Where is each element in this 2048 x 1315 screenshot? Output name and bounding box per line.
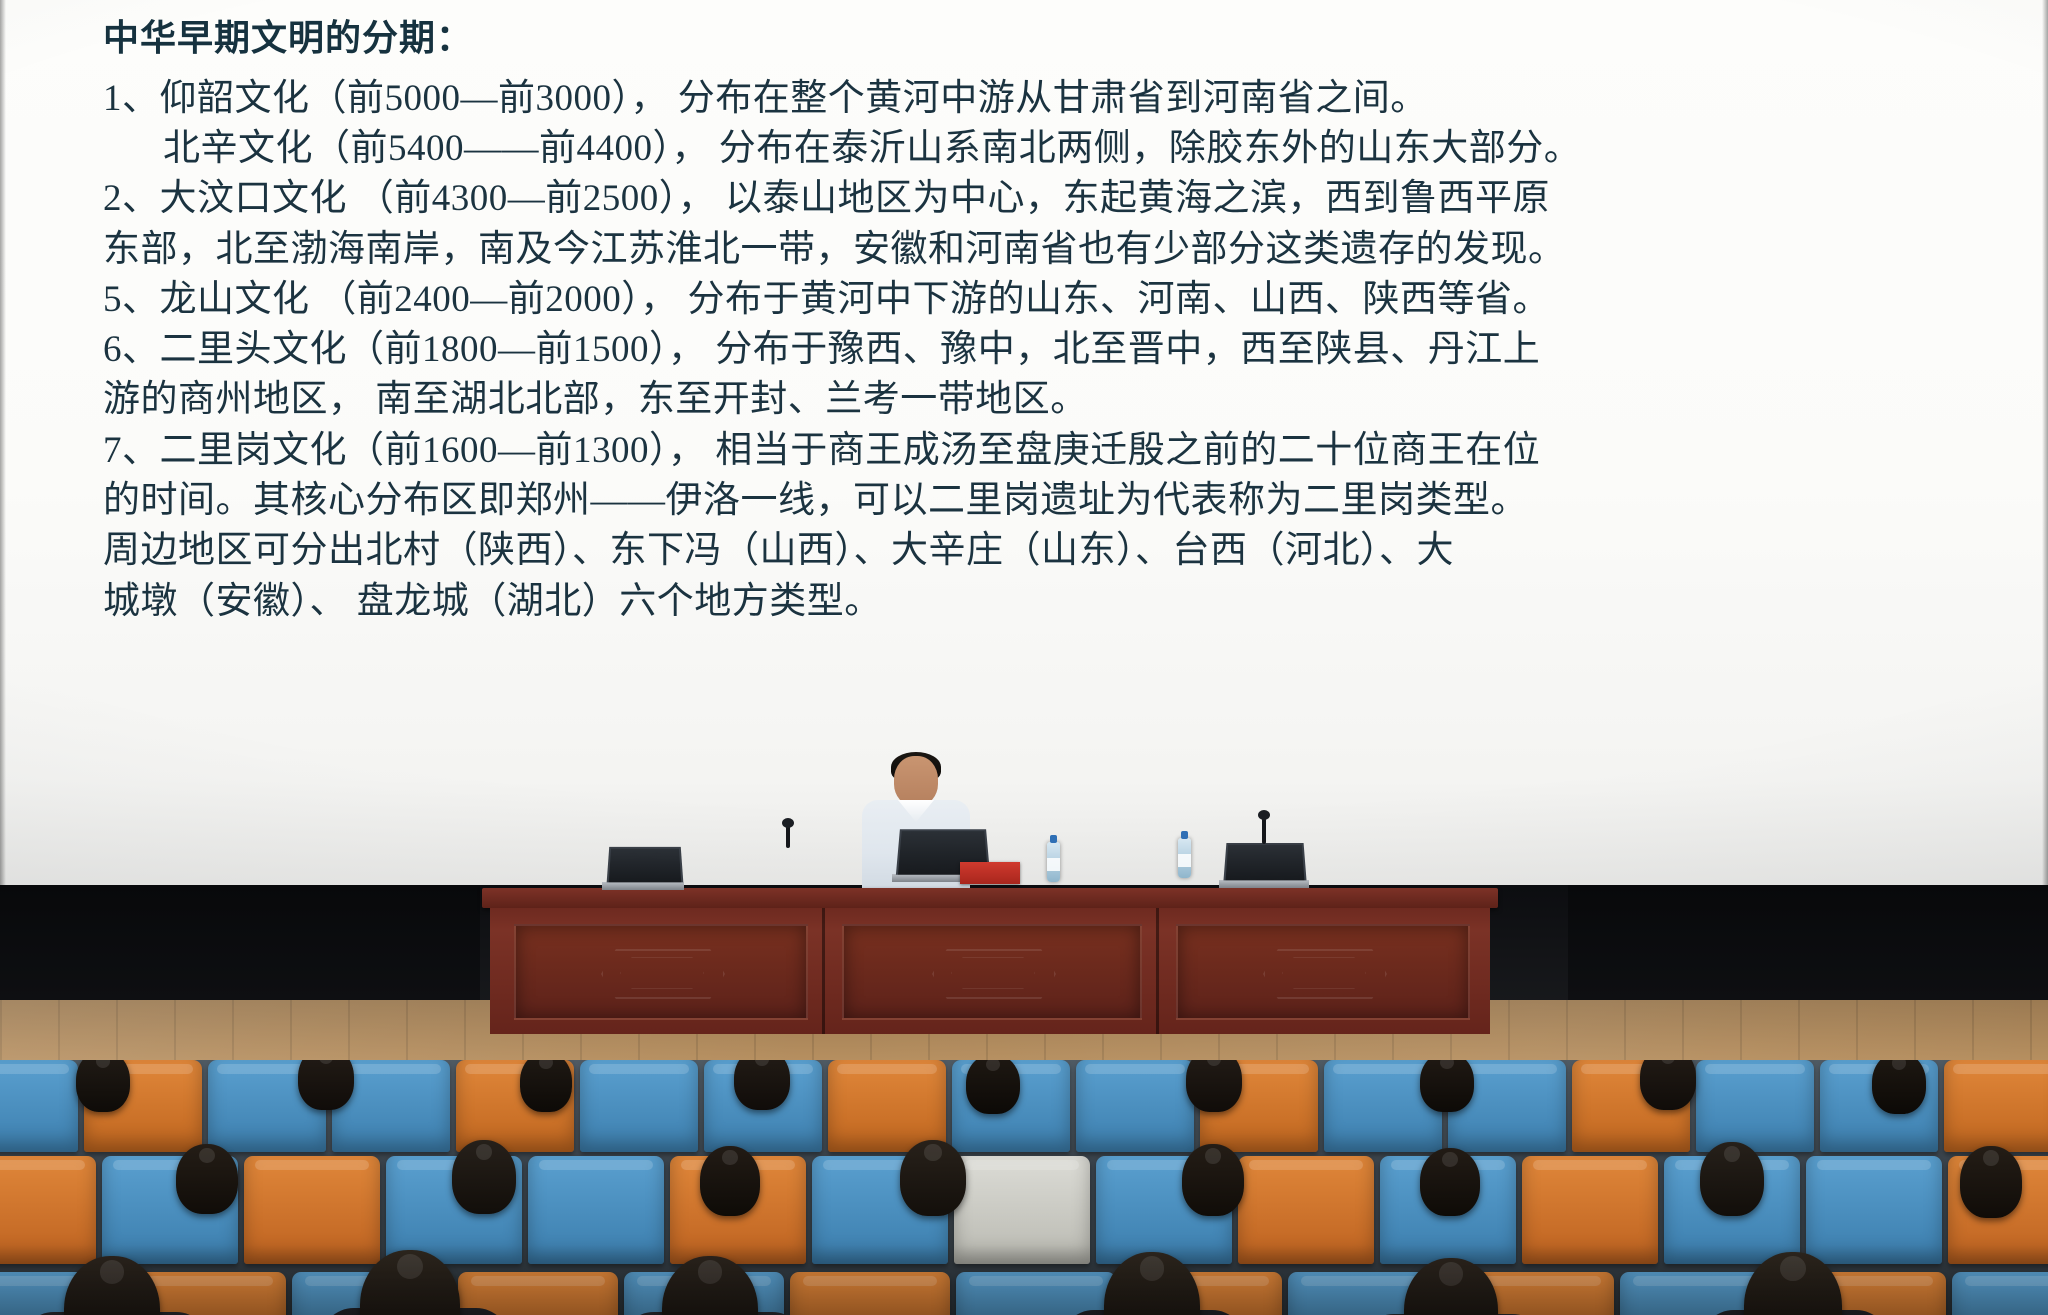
slide-line-9: 的时间。其核心分布区即郑州——伊洛一线，可以二里岗遗址为代表称为二里岗类型。 bbox=[103, 476, 2008, 526]
seat-row-front bbox=[0, 1272, 2048, 1315]
seat bbox=[1696, 1060, 1814, 1152]
audience-head bbox=[520, 1060, 572, 1112]
seat-back bbox=[1952, 1272, 2048, 1315]
nameplate bbox=[960, 862, 1020, 884]
audience-head bbox=[1182, 1144, 1244, 1216]
audience-head bbox=[176, 1144, 238, 1214]
podium-seam bbox=[822, 908, 825, 1034]
seat-back bbox=[954, 1156, 1090, 1264]
seat bbox=[790, 1272, 950, 1315]
water-bottle-left bbox=[1047, 842, 1060, 882]
microphone-icon bbox=[1262, 818, 1266, 844]
seat-back bbox=[1806, 1156, 1942, 1264]
lecture-hall-scene: 中华早期文明的分期： 1、仰韶文化（前5000—前3000）， 分布在整个黄河中… bbox=[0, 0, 2048, 1315]
screen-edge-left bbox=[0, 0, 6, 885]
seat-highlight bbox=[471, 1276, 605, 1286]
seat-highlight bbox=[837, 1064, 936, 1074]
seat bbox=[0, 1156, 96, 1264]
seat-highlight bbox=[965, 1160, 1079, 1170]
seat bbox=[1806, 1156, 1942, 1264]
seat-highlight bbox=[1249, 1160, 1363, 1170]
audience-head bbox=[76, 1060, 130, 1112]
audience-head bbox=[966, 1060, 1020, 1114]
audience-head bbox=[1700, 1142, 1764, 1216]
seat-highlight bbox=[539, 1160, 653, 1170]
seat bbox=[1944, 1060, 2048, 1152]
seat-highlight bbox=[1533, 1160, 1647, 1170]
seat-back bbox=[1238, 1156, 1374, 1264]
audience-head bbox=[900, 1140, 966, 1216]
seat-highlight bbox=[0, 1064, 69, 1074]
laptop-screen bbox=[1223, 843, 1306, 880]
slide-text-block: 中华早期文明的分期： 1、仰韶文化（前5000—前3000）， 分布在整个黄河中… bbox=[103, 18, 2008, 627]
audience-head bbox=[298, 1060, 354, 1110]
audience-head bbox=[1186, 1060, 1242, 1112]
podium-seam bbox=[1156, 908, 1159, 1034]
seat-highlight bbox=[969, 1276, 1103, 1286]
slide-line-7: 游的商州地区， 南至湖北北部，东至开封、兰考一带地区。 bbox=[103, 375, 2008, 425]
seat-highlight bbox=[1333, 1064, 1432, 1074]
seat-back bbox=[528, 1156, 664, 1264]
slide-line-6: 6、二里头文化（前1800—前1500）， 分布于豫西、豫中，北至晋中，西至陕县… bbox=[103, 325, 2008, 375]
slide-line-3: 2、大汶口文化 （前4300—前2500）， 以泰山地区为中心，东起黄海之滨，西… bbox=[103, 174, 2008, 224]
seat-highlight bbox=[341, 1064, 440, 1074]
audience-seating bbox=[0, 1060, 2048, 1315]
seat bbox=[528, 1156, 664, 1264]
seat-highlight bbox=[255, 1160, 369, 1170]
audience-head bbox=[1960, 1146, 2022, 1218]
seat bbox=[828, 1060, 946, 1152]
seat-highlight bbox=[139, 1276, 273, 1286]
audience-head bbox=[662, 1256, 758, 1315]
seat bbox=[1076, 1060, 1194, 1152]
slide-line-10: 周边地区可分出北村（陕西）、东下冯（山西）、大辛庄（山东）、台西（河北）、大 bbox=[103, 526, 2008, 576]
podium-top-rail bbox=[482, 888, 1498, 908]
seat-back bbox=[580, 1060, 698, 1152]
slide-line-1: 1、仰韶文化（前5000—前3000）， 分布在整个黄河中游从甘肃省到河南省之间… bbox=[103, 74, 2008, 124]
audience-head bbox=[700, 1146, 760, 1216]
seat-highlight bbox=[1085, 1064, 1184, 1074]
slide-line-4: 东部，北至渤海南岸，南及今江苏淮北一带，安徽和河南省也有少部分这类遗存的发现。 bbox=[103, 225, 2008, 275]
seat-highlight bbox=[0, 1160, 85, 1170]
seat bbox=[954, 1156, 1090, 1264]
seat-back bbox=[1076, 1060, 1194, 1152]
podium-diamond-inner-icon bbox=[1282, 957, 1366, 989]
laptop-left bbox=[608, 846, 684, 890]
seat-back bbox=[956, 1272, 1116, 1315]
podium-panel-center bbox=[842, 924, 1142, 1020]
seat bbox=[1522, 1156, 1658, 1264]
seat-highlight bbox=[1817, 1160, 1931, 1170]
podium-diamond-inner-icon bbox=[951, 957, 1035, 989]
seat-highlight bbox=[589, 1064, 688, 1074]
slide-line-2: 北辛文化（前5400——前4400）， 分布在泰沂山系南北两侧，除胶东外的山东大… bbox=[103, 124, 2008, 174]
slide-title: 中华早期文明的分期： bbox=[103, 18, 2008, 58]
podium-diamond-inner-icon bbox=[620, 957, 704, 989]
laptop-base bbox=[1219, 880, 1309, 888]
slide-line-5: 5、龙山文化 （前2400—前2000）， 分布于黄河中下游的山东、河南、山西、… bbox=[103, 275, 2008, 325]
audience-head bbox=[1420, 1148, 1480, 1216]
laptop-base bbox=[602, 882, 684, 890]
seat-back bbox=[0, 1156, 96, 1264]
projected-slide: 中华早期文明的分期： 1、仰韶文化（前5000—前3000）， 分布在整个黄河中… bbox=[0, 0, 2048, 885]
audience-head bbox=[1404, 1258, 1498, 1315]
audience-head bbox=[452, 1140, 516, 1214]
slide-line-8: 7、二里岗文化（前1600—前1300）， 相当于商王成汤至盘庚迁殷之前的二十位… bbox=[103, 426, 2008, 476]
seat-back bbox=[244, 1156, 380, 1264]
seat-back bbox=[0, 1060, 78, 1152]
podium-panel-left bbox=[514, 924, 808, 1020]
bottle-label bbox=[1047, 858, 1060, 871]
microphone-icon bbox=[786, 826, 790, 848]
slide-line-11: 城墩（安徽）、 盘龙城（湖北）六个地方类型。 bbox=[103, 577, 2008, 627]
laptop-screen bbox=[607, 847, 684, 882]
seat-back bbox=[1944, 1060, 2048, 1152]
speaker-podium bbox=[490, 888, 1490, 1036]
laptop-right bbox=[1225, 842, 1309, 888]
seat-highlight bbox=[803, 1276, 937, 1286]
water-bottle-right bbox=[1178, 838, 1191, 878]
seat-back bbox=[828, 1060, 946, 1152]
seat-back bbox=[1696, 1060, 1814, 1152]
seat bbox=[1952, 1272, 2048, 1315]
seat-highlight bbox=[1953, 1064, 2048, 1074]
seat-highlight bbox=[1705, 1064, 1804, 1074]
podium-front bbox=[490, 908, 1490, 1034]
seat bbox=[956, 1272, 1116, 1315]
bottle-label bbox=[1178, 854, 1191, 867]
audience-head bbox=[734, 1060, 790, 1110]
screen-edge-right bbox=[2042, 0, 2048, 885]
seat bbox=[1238, 1156, 1374, 1264]
audience-head bbox=[64, 1256, 160, 1315]
seat bbox=[244, 1156, 380, 1264]
seat-highlight bbox=[1965, 1276, 2048, 1286]
presenter-head bbox=[894, 756, 938, 806]
seat-back bbox=[790, 1272, 950, 1315]
audience-head bbox=[1640, 1060, 1696, 1110]
audience-head bbox=[1420, 1060, 1474, 1112]
seat-back bbox=[1522, 1156, 1658, 1264]
audience-head bbox=[1872, 1060, 1926, 1114]
podium-panel-right bbox=[1176, 924, 1470, 1020]
seat bbox=[580, 1060, 698, 1152]
seat bbox=[0, 1060, 78, 1152]
